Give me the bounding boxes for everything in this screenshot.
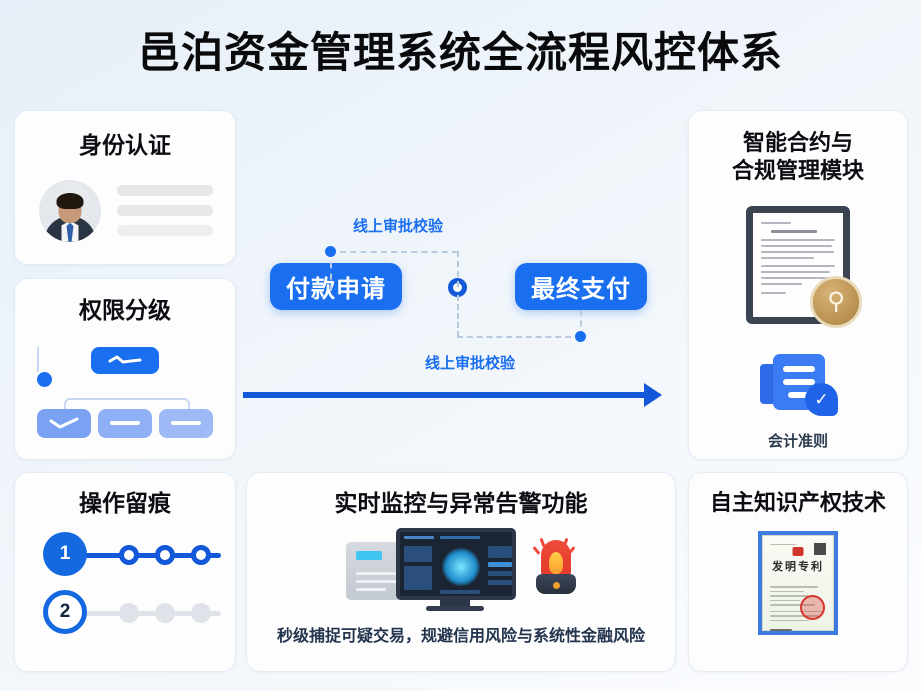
tree-hub-dot bbox=[37, 372, 52, 387]
cue-connector-bottom-horizontal bbox=[457, 336, 581, 338]
placeholder-line bbox=[117, 205, 213, 216]
card-smart-contract-compliance[interactable]: 智能合约与 合规管理模块 ⚲ ✓ 会计准则 bbox=[688, 110, 908, 460]
radar-glow bbox=[442, 548, 480, 586]
card-identity-title: 身份认证 bbox=[15, 131, 235, 160]
monitor-base bbox=[426, 606, 484, 611]
cue-label-top: 线上审批校验 bbox=[353, 215, 443, 236]
card-identity-verification[interactable]: 身份认证 bbox=[14, 110, 236, 265]
card-contract-title-line1: 智能合约与 bbox=[743, 130, 853, 155]
cue-connector-bottom-vertical bbox=[457, 295, 459, 337]
monitoring-illustration bbox=[346, 528, 576, 610]
card-independent-ip-technology[interactable]: 自主知识产权技术 发明专利 bbox=[688, 472, 908, 672]
flow-arrow-icon bbox=[644, 383, 662, 407]
tree-child-node-2 bbox=[98, 409, 152, 438]
zigzag-line-icon bbox=[108, 354, 142, 366]
alarm-beacon-icon bbox=[534, 540, 578, 602]
certificate-emblem bbox=[793, 547, 804, 556]
beacon-knob bbox=[553, 582, 560, 589]
line-icon bbox=[171, 421, 201, 425]
beacon-flame bbox=[549, 552, 563, 574]
contract-sub-label: 会计准则 bbox=[689, 430, 907, 451]
tree-root-node bbox=[91, 347, 159, 374]
identity-body bbox=[39, 180, 235, 242]
trace-row-1: 1 bbox=[15, 532, 235, 576]
patent-certificate-icon: 发明专利 bbox=[758, 531, 838, 635]
certificate-qr-code bbox=[814, 543, 826, 555]
tree-connector-vertical bbox=[37, 347, 39, 361]
check-badge-icon: ✓ bbox=[805, 383, 838, 416]
card-ip-title: 自主知识产权技术 bbox=[689, 489, 907, 517]
card-permission-levels[interactable]: 权限分级 bbox=[14, 278, 236, 460]
trace-dot bbox=[191, 545, 211, 565]
flow-main-line bbox=[243, 392, 651, 398]
cue-dot-top bbox=[325, 246, 336, 257]
card-operation-trace[interactable]: 操作留痕 1 2 bbox=[14, 472, 236, 672]
trace-row-2: 2 bbox=[15, 590, 235, 634]
trace-dot bbox=[155, 545, 175, 565]
card-trace-title: 操作留痕 bbox=[15, 489, 235, 518]
monitor-caption: 秒级捕捉可疑交易，规避信用风险与系统性金融风险 bbox=[247, 622, 675, 646]
trace-dot bbox=[119, 545, 139, 565]
card-contract-title-line2: 合规管理模块 bbox=[732, 158, 864, 183]
trace-dot bbox=[191, 603, 211, 623]
cue-dot-bottom bbox=[575, 331, 586, 342]
certificate-heading: 发明专利 bbox=[772, 558, 824, 574]
server-indicator bbox=[356, 551, 382, 560]
cue-label-bottom: 线上审批校验 bbox=[425, 352, 515, 373]
trace-dot bbox=[119, 603, 139, 623]
tree-connector-middle bbox=[37, 361, 39, 372]
certificate-page: 发明专利 bbox=[762, 535, 834, 631]
monitor-screen bbox=[396, 528, 516, 600]
contract-document-icon: ⚲ bbox=[746, 206, 850, 324]
card-monitor-title: 实时监控与异常告警功能 bbox=[247, 489, 675, 518]
card-permission-title: 权限分级 bbox=[15, 296, 235, 325]
placeholder-line bbox=[117, 225, 213, 236]
check-line-icon bbox=[47, 417, 81, 429]
cue-connector-top-vertical bbox=[330, 251, 332, 291]
card-realtime-monitoring[interactable]: 实时监控与异常告警功能 bbox=[246, 472, 676, 672]
line-icon bbox=[110, 421, 140, 425]
certificate-red-stamp bbox=[800, 595, 825, 620]
cue-connector-top-horizontal bbox=[330, 251, 458, 253]
trace-dot bbox=[155, 603, 175, 623]
card-contract-title: 智能合约与 合规管理模块 bbox=[689, 129, 907, 184]
monitor-icon bbox=[396, 528, 516, 600]
tree-child-node-3 bbox=[159, 409, 213, 438]
page-title: 邑泊资金管理系统全流程风控体系 bbox=[0, 30, 921, 76]
trace-step-badge-2: 2 bbox=[43, 590, 87, 634]
placeholder-line bbox=[117, 185, 213, 196]
tree-child-node-1 bbox=[37, 409, 91, 438]
accounting-standard-icon: ✓ bbox=[760, 352, 836, 414]
flow-step-payment-request[interactable]: 付款申请 bbox=[270, 263, 402, 310]
avatar bbox=[39, 180, 101, 242]
gold-seal-icon: ⚲ bbox=[810, 276, 862, 328]
permission-tree-diagram bbox=[37, 347, 213, 439]
infographic-canvas: 邑泊资金管理系统全流程风控体系 身份认证 权限分级 bbox=[0, 0, 921, 691]
identity-placeholder-lines bbox=[117, 185, 213, 236]
cue-connector-top-down bbox=[457, 251, 459, 287]
trace-step-badge-1: 1 bbox=[43, 532, 87, 576]
flow-step-final-payment[interactable]: 最终支付 bbox=[515, 263, 647, 310]
payment-flow-diagram: 付款申请 最终支付 线上审批校验 线上审批校验 bbox=[240, 105, 680, 465]
